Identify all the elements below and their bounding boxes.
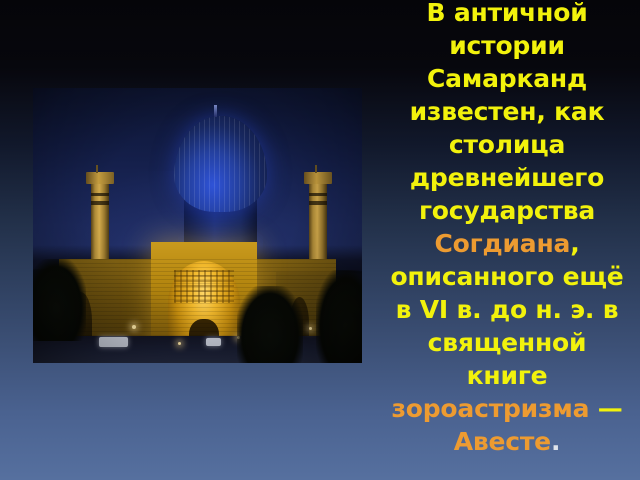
text-line-10: в VI в. до н. э. в: [374, 293, 640, 326]
photo-vignette: [33, 88, 362, 363]
text-line-13-tail: —: [589, 394, 622, 423]
text-line-3: Самарканд: [374, 62, 640, 95]
term-zoroastrism: зороастризма: [391, 394, 589, 423]
term-sogdiana: Согдиана: [434, 229, 570, 258]
slide: В античной истории Самарканд известен, к…: [0, 0, 640, 480]
samarkand-night-photo: [33, 88, 362, 363]
text-line-4: известен, как: [374, 95, 640, 128]
text-line-6: древнейшего: [374, 161, 640, 194]
text-line-9: описанного ещё: [374, 260, 640, 293]
text-line-14: Авесте.: [374, 425, 640, 458]
slide-body-text: В античной истории Самарканд известен, к…: [374, 0, 640, 458]
text-line-1: В античной: [374, 0, 640, 29]
text-line-2: истории: [374, 29, 640, 62]
text-line-8-tail: ,: [570, 229, 579, 258]
text-line-12: книге: [374, 359, 640, 392]
text-line-5: столица: [374, 128, 640, 161]
text-line-13: зороастризма —: [374, 392, 640, 425]
term-avesta: Авесте: [454, 427, 551, 456]
text-line-11: священной: [374, 326, 640, 359]
text-line-8: Согдиана,: [374, 227, 640, 260]
text-line-7: государства: [374, 194, 640, 227]
text-line-14-tail: .: [551, 427, 560, 456]
